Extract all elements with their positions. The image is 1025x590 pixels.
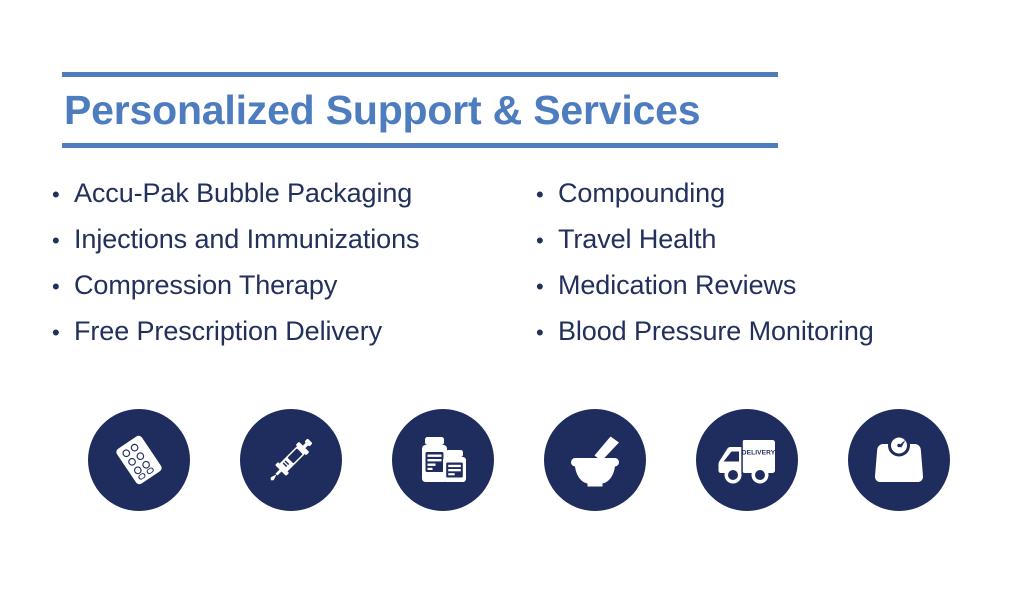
- syringe-icon: [259, 428, 323, 492]
- title-block: Personalized Support & Services: [62, 72, 778, 148]
- bullet-icon: •: [536, 230, 558, 252]
- delivery-truck-icon: DELIVERY: [712, 425, 782, 495]
- bullet-icon: •: [536, 276, 558, 298]
- service-label: Travel Health: [558, 224, 716, 255]
- icon-badge-pill-bottles: [392, 409, 494, 511]
- list-item: • Injections and Immunizations: [52, 224, 530, 270]
- service-label: Compounding: [558, 178, 725, 209]
- mortar-pestle-icon: [563, 428, 627, 492]
- truck-delivery-label: DELIVERY: [742, 450, 776, 457]
- bullet-icon: •: [52, 276, 74, 298]
- service-label: Blood Pressure Monitoring: [558, 316, 874, 347]
- list-item: • Travel Health: [536, 224, 874, 270]
- pill-bottles-icon: [411, 428, 475, 492]
- services-column-right: • Compounding • Travel Health • Medicati…: [536, 178, 874, 362]
- icon-badge-syringe: [240, 409, 342, 511]
- service-label: Injections and Immunizations: [74, 224, 419, 255]
- icon-badge-blister-pack: [88, 409, 190, 511]
- bullet-icon: •: [536, 322, 558, 344]
- list-item: • Accu-Pak Bubble Packaging: [52, 178, 530, 224]
- icon-badge-delivery-truck: DELIVERY: [696, 409, 798, 511]
- bullet-icon: •: [52, 184, 74, 206]
- bullet-icon: •: [52, 322, 74, 344]
- bullet-icon: •: [52, 230, 74, 252]
- icon-row: DELIVERY: [88, 409, 950, 511]
- weight-scale-icon: [867, 428, 931, 492]
- service-label: Accu-Pak Bubble Packaging: [74, 178, 412, 209]
- list-item: • Compounding: [536, 178, 874, 224]
- list-item: • Free Prescription Delivery: [52, 316, 530, 362]
- icon-badge-mortar-pestle: [544, 409, 646, 511]
- service-label: Free Prescription Delivery: [74, 316, 382, 347]
- list-item: • Blood Pressure Monitoring: [536, 316, 874, 362]
- list-item: • Compression Therapy: [52, 270, 530, 316]
- service-label: Compression Therapy: [74, 270, 337, 301]
- services-lists: • Accu-Pak Bubble Packaging • Injections…: [0, 178, 1025, 362]
- icon-badge-weight-scale: [848, 409, 950, 511]
- blister-pack-icon: [107, 428, 171, 492]
- services-column-left: • Accu-Pak Bubble Packaging • Injections…: [52, 178, 530, 362]
- page-title: Personalized Support & Services: [62, 77, 778, 143]
- list-item: • Medication Reviews: [536, 270, 874, 316]
- service-label: Medication Reviews: [558, 270, 796, 301]
- title-rule-bottom: [62, 143, 778, 148]
- bullet-icon: •: [536, 184, 558, 206]
